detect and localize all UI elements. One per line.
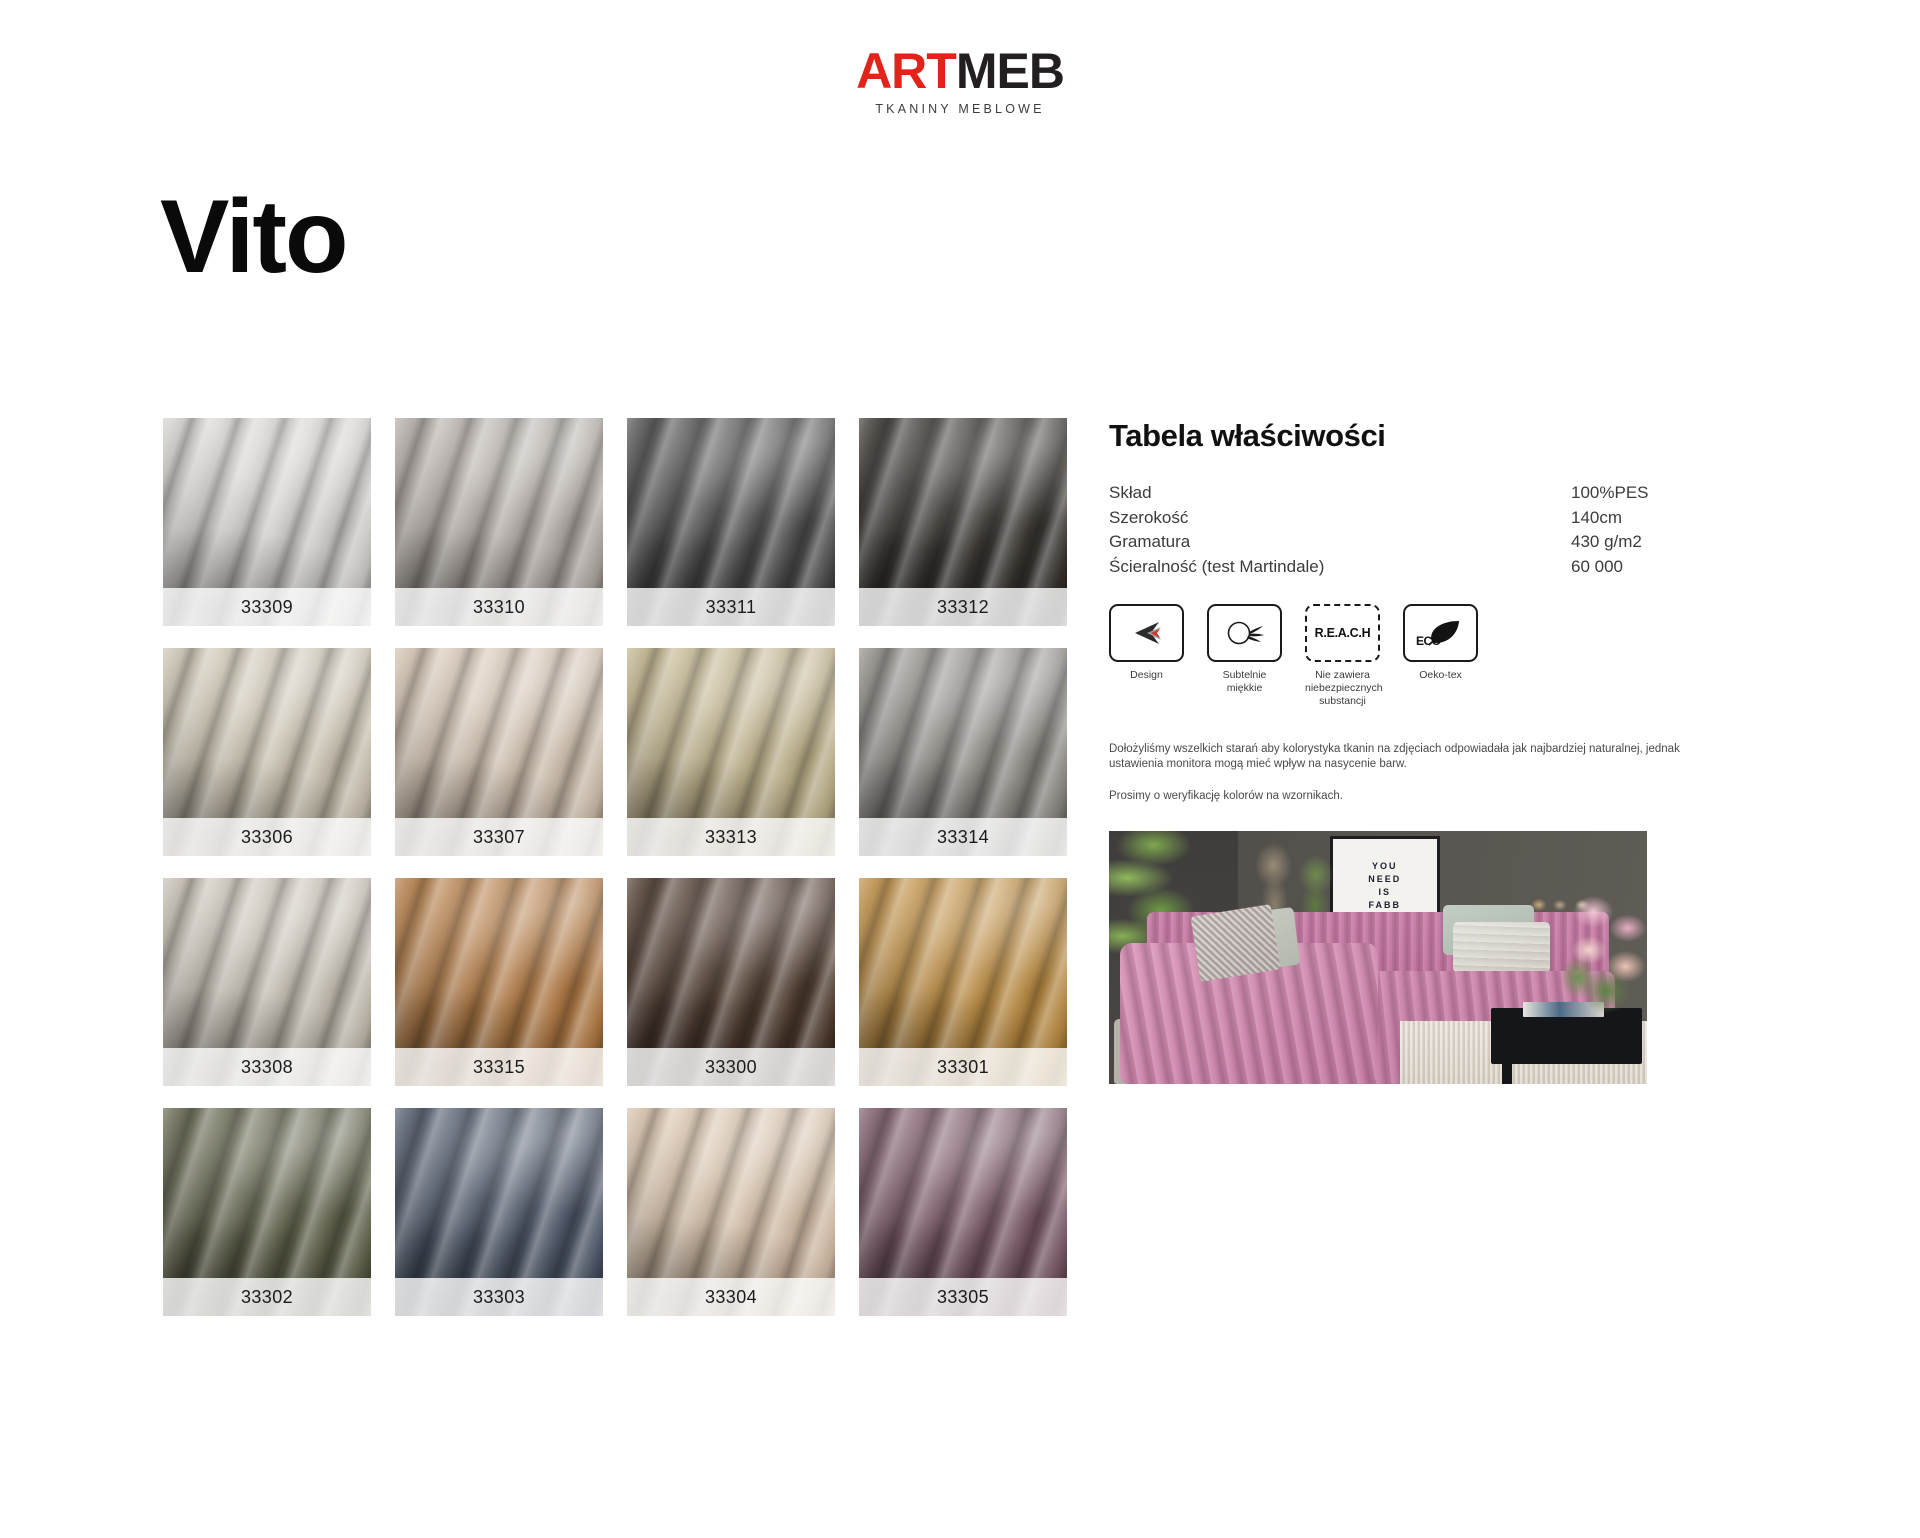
swatch-code-label: 33300 xyxy=(627,1048,835,1086)
page-header: ARTMEB TKANINY MEBLOWE xyxy=(0,0,1920,116)
swatch-code-label: 33311 xyxy=(627,588,835,626)
property-value: 430 g/m2 xyxy=(1571,530,1669,555)
fabric-swatch[interactable]: 33314 xyxy=(859,648,1067,856)
logo-wordmark: ARTMEB xyxy=(856,46,1064,96)
swatch-code-label: 33310 xyxy=(395,588,603,626)
property-name: Gramatura xyxy=(1109,530,1571,555)
disclaimer: Dołożyliśmy wszelkich starań aby kolorys… xyxy=(1109,742,1721,804)
fabric-swatch[interactable]: 33304 xyxy=(627,1108,835,1316)
fabric-swatch[interactable]: 33311 xyxy=(627,418,835,626)
logo-tagline: TKANINY MEBLOWE xyxy=(856,103,1064,116)
swatch-code-label: 33305 xyxy=(859,1278,1067,1316)
design-chevron-icon xyxy=(1109,604,1184,662)
fabric-swatch[interactable]: 33312 xyxy=(859,418,1067,626)
fabric-swatch[interactable]: 33310 xyxy=(395,418,603,626)
feature-badge: Design xyxy=(1109,604,1184,708)
swatch-code-label: 33308 xyxy=(163,1048,371,1086)
fabric-swatch[interactable]: 33309 xyxy=(163,418,371,626)
swatch-code-label: 33303 xyxy=(395,1278,603,1316)
disclaimer-paragraph-2: Prosimy o weryfikację kolorów na wzornik… xyxy=(1109,789,1721,804)
swatch-code-label: 33302 xyxy=(163,1278,371,1316)
brand-logo: ARTMEB TKANINY MEBLOWE xyxy=(856,46,1064,116)
property-value: 100%PES xyxy=(1571,481,1669,506)
property-value: 140cm xyxy=(1571,506,1669,531)
swatch-code-label: 33315 xyxy=(395,1048,603,1086)
feather-circle-icon xyxy=(1207,604,1282,662)
badge-caption: Subtelnie miękkie xyxy=(1207,669,1282,695)
swatch-code-label: 33314 xyxy=(859,818,1067,856)
property-name: Szerokość xyxy=(1109,506,1571,531)
property-name: Ścieralność (test Martindale) xyxy=(1109,555,1571,580)
property-row: Skład100%PES xyxy=(1109,481,1669,506)
logo-art-text: ART xyxy=(856,43,956,99)
logo-meb-text: MEB xyxy=(956,43,1064,99)
poster-line: NEED xyxy=(1368,873,1401,886)
room-photo: YOUNEEDISFABB xyxy=(1109,831,1647,1084)
reach-label: R.E.A.C.H xyxy=(1315,626,1371,640)
badge-caption: Nie zawiera niebezpiecznych substancji xyxy=(1305,669,1380,708)
knitted-throw xyxy=(1190,904,1280,982)
swatch-code-label: 33306 xyxy=(163,818,371,856)
feature-badge: ECOOeko-tex xyxy=(1403,604,1478,708)
swatch-code-label: 33309 xyxy=(163,588,371,626)
property-value: 60 000 xyxy=(1571,555,1669,580)
fabric-swatch[interactable]: 33301 xyxy=(859,878,1067,1086)
main-content: 3330933310333113331233306333073331333314… xyxy=(0,418,1920,1316)
reach-icon: R.E.A.C.H xyxy=(1305,604,1380,662)
fabric-swatch[interactable]: 33306 xyxy=(163,648,371,856)
fabric-swatch[interactable]: 33305 xyxy=(859,1108,1067,1316)
feature-badge: Subtelnie miękkie xyxy=(1207,604,1282,708)
fabric-swatch[interactable]: 33315 xyxy=(395,878,603,1086)
property-row: Ścieralność (test Martindale)60 000 xyxy=(1109,555,1669,580)
fabric-swatch[interactable]: 33300 xyxy=(627,878,835,1086)
properties-table: Skład100%PESSzerokość140cmGramatura430 g… xyxy=(1109,481,1669,579)
coffee-table-leg xyxy=(1502,1019,1513,1085)
disclaimer-paragraph-1: Dołożyliśmy wszelkich starań aby kolorys… xyxy=(1109,742,1721,772)
swatch-code-label: 33301 xyxy=(859,1048,1067,1086)
sofa-pillow-white xyxy=(1453,922,1550,973)
fabric-swatch[interactable]: 33307 xyxy=(395,648,603,856)
property-row: Gramatura430 g/m2 xyxy=(1109,530,1669,555)
poster-line: FABB xyxy=(1368,899,1401,912)
poster-line: IS xyxy=(1378,886,1391,899)
swatch-column: 3330933310333113331233306333073331333314… xyxy=(163,418,1053,1316)
eco-label: ECO xyxy=(1416,634,1441,648)
swatch-code-label: 33307 xyxy=(395,818,603,856)
swatch-code-label: 33312 xyxy=(859,588,1067,626)
eco-leaf-icon: ECO xyxy=(1403,604,1478,662)
property-row: Szerokość140cm xyxy=(1109,506,1669,531)
badge-caption: Oeko-tex xyxy=(1403,669,1478,682)
info-column: Tabela właściwości Skład100%PESSzerokość… xyxy=(1109,418,1729,1316)
collection-title: Vito xyxy=(160,185,347,289)
property-name: Skład xyxy=(1109,481,1571,506)
fabric-swatch[interactable]: 33303 xyxy=(395,1108,603,1316)
feature-badges: DesignSubtelnie miękkieR.E.A.C.HNie zawi… xyxy=(1109,604,1729,708)
fabric-swatch[interactable]: 33308 xyxy=(163,878,371,1086)
badge-caption: Design xyxy=(1109,669,1184,682)
swatch-code-label: 33313 xyxy=(627,818,835,856)
flower-bouquet xyxy=(1550,887,1647,1024)
fabric-swatch[interactable]: 33302 xyxy=(163,1108,371,1316)
poster-line: YOU xyxy=(1372,860,1398,873)
feature-badge: R.E.A.C.HNie zawiera niebezpiecznych sub… xyxy=(1305,604,1380,708)
swatch-code-label: 33304 xyxy=(627,1278,835,1316)
fabric-swatch[interactable]: 33313 xyxy=(627,648,835,856)
swatch-grid: 3330933310333113331233306333073331333314… xyxy=(163,418,1053,1316)
properties-title: Tabela właściwości xyxy=(1109,418,1729,454)
